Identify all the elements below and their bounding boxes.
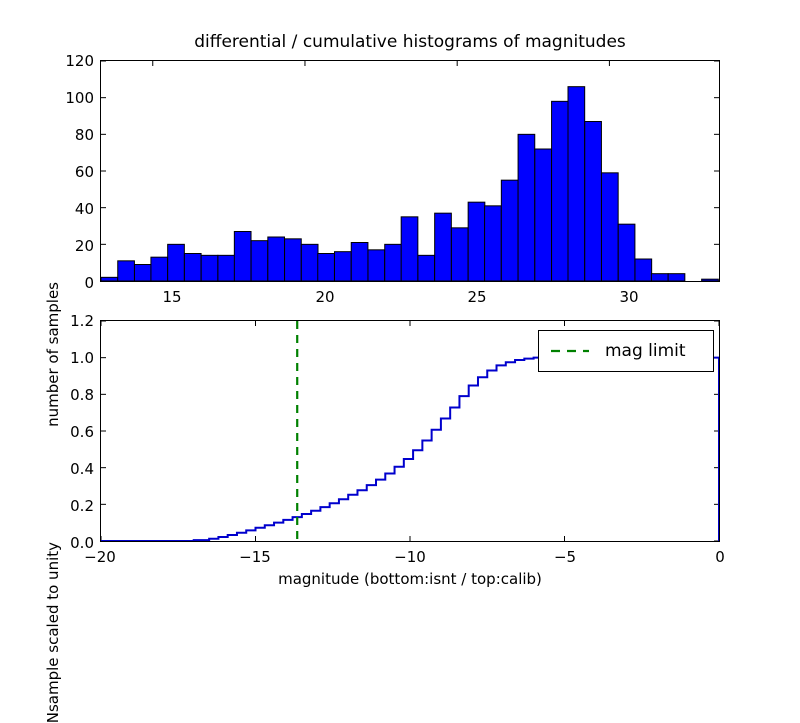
cum-xtick-0: 0 <box>700 548 740 566</box>
hist-ytick-40: 40 <box>62 200 94 218</box>
hist-xtick-25: 25 <box>462 288 492 306</box>
cum-ytick-0.8: 0.8 <box>54 386 94 404</box>
hist-ytick-60: 60 <box>62 163 94 181</box>
cum-xlabel: magnitude (bottom:isnt / top:calib) <box>100 570 720 588</box>
cum-xtick--20: −20 <box>80 548 120 566</box>
hist-xtick-15: 15 <box>157 288 187 306</box>
cum-xtick--15: −15 <box>235 548 275 566</box>
cum-xtick--10: −10 <box>390 548 430 566</box>
cum-ytick-0.4: 0.4 <box>54 460 94 478</box>
hist-ytick-120: 120 <box>62 52 94 70</box>
hist-xtick-20: 20 <box>310 288 340 306</box>
hist-ytick-100: 100 <box>62 89 94 107</box>
hist-ytick-80: 80 <box>62 126 94 144</box>
cum-ytick-1.2: 1.2 <box>54 312 94 330</box>
figure-canvas: differential / cumulative histograms of … <box>0 0 800 600</box>
cum-ytick-0.2: 0.2 <box>54 497 94 515</box>
page-title: differential / cumulative histograms of … <box>100 32 720 52</box>
histogram-axes <box>100 60 720 282</box>
mag-limit-dash-icon <box>549 344 591 358</box>
cum-ytick-0.6: 0.6 <box>54 423 94 441</box>
cum-xtick--5: −5 <box>545 548 585 566</box>
histogram-plot <box>101 61 719 281</box>
hist-ytick-0: 0 <box>62 274 94 292</box>
cum-ytick-1.0: 1.0 <box>54 349 94 367</box>
hist-xtick-30: 30 <box>614 288 644 306</box>
hist-ytick-20: 20 <box>62 237 94 255</box>
legend[interactable]: mag limit <box>538 330 714 372</box>
cum-ylabel: Nsample scaled to unity <box>44 542 62 723</box>
legend-label-mag-limit: mag limit <box>605 341 686 361</box>
